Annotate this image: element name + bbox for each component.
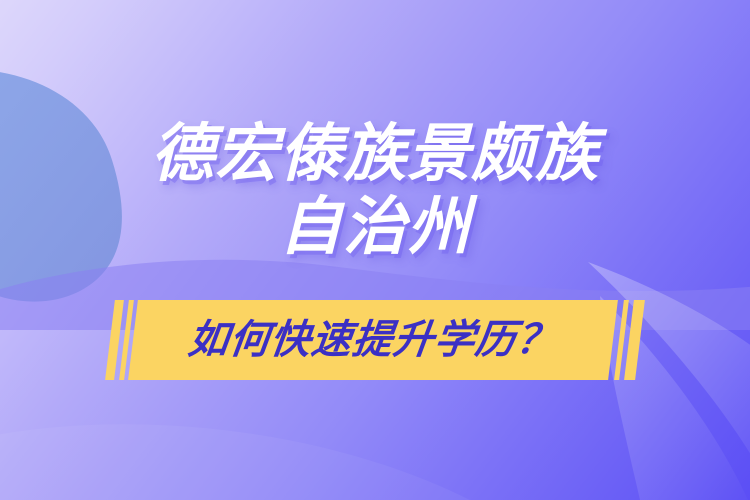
banner-left-outer-bar	[0, 300, 5, 380]
banner-text: 如何快速提升学历？	[186, 320, 560, 360]
page-title: 德宏傣族景颇族 自治州	[0, 118, 750, 264]
title-line-2: 自治州	[0, 191, 750, 264]
banner-text-container: 如何快速提升学历？	[128, 300, 618, 380]
swoosh-shape-wide	[0, 424, 470, 500]
subtitle-banner: 如何快速提升学历？	[0, 300, 750, 384]
promo-banner-image: 德宏傣族景颇族 自治州 如何快速提升学历？	[0, 0, 750, 500]
title-line-1: 德宏傣族景颇族	[0, 118, 750, 191]
